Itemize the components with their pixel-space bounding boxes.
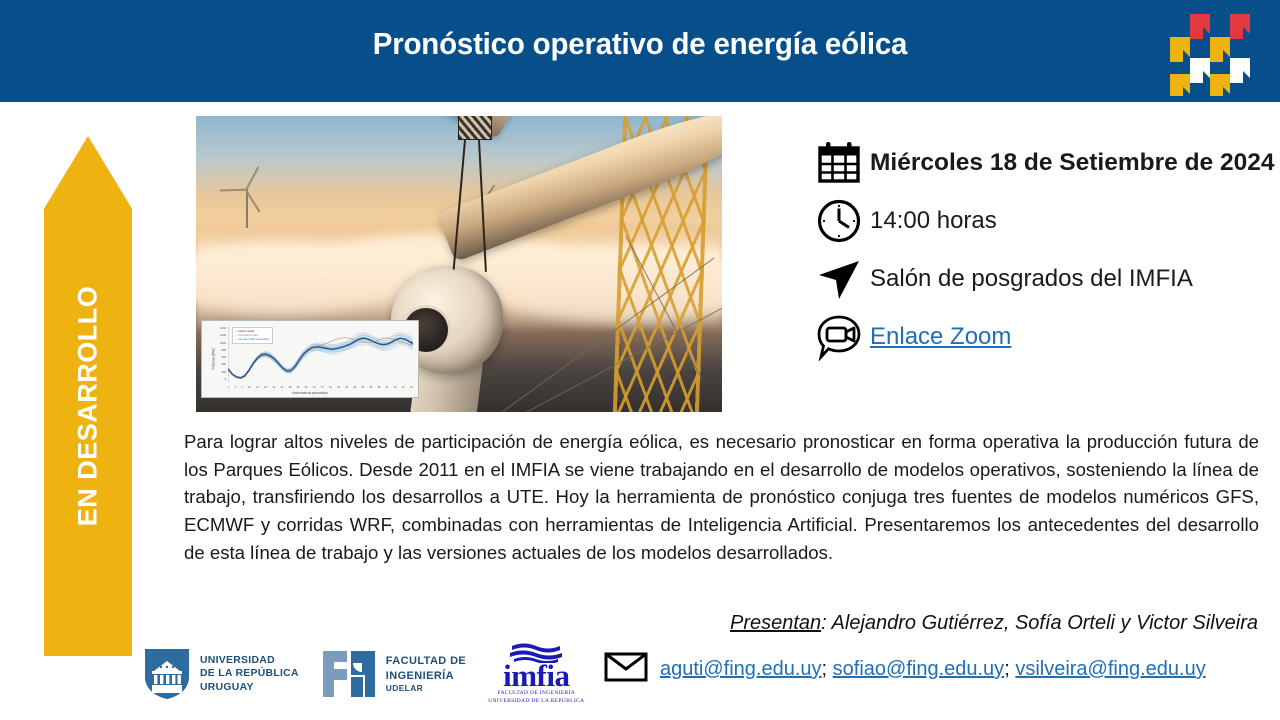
- udelar-logo: UNIVERSIDAD DE LA REPÚBLICA URUGUAY: [143, 647, 299, 701]
- chart-x-tick: 67: [402, 386, 405, 389]
- chart-x-ticks: 1471013161922252831343740434649525558616…: [228, 386, 413, 389]
- presenters-names: Alejandro Gutiérrez, Sofía Orteli y Vict…: [832, 612, 1258, 634]
- chart-x-tick: 52: [361, 386, 364, 389]
- chart-y-ticks: 1400120010008006004002000: [204, 326, 226, 381]
- chart-x-tick: 25: [288, 386, 291, 389]
- imfia-sub-1: FACULTAD DE INGENIERÍA: [488, 690, 584, 698]
- chart-x-tick: 55: [369, 386, 372, 389]
- udelar-logo-text: UNIVERSIDAD DE LA REPÚBLICA URUGUAY: [200, 654, 299, 695]
- event-time-text: 14:00 horas: [870, 207, 997, 235]
- email-link[interactable]: sofiao@fing.edu.uy: [833, 658, 1005, 680]
- chart-x-tick: 49: [353, 386, 356, 389]
- imfia-sub-2: UNIVERSIDAD DE LA REPÚBLICA: [488, 698, 584, 706]
- chart-y-tick: 1200: [220, 333, 226, 337]
- envelope-icon: [604, 652, 648, 687]
- chart-x-tick: 10: [248, 386, 251, 389]
- status-banner-en-desarrollo: EN DESARROLLO: [44, 136, 132, 656]
- abstract-paragraph: Para lograr altos niveles de participaci…: [184, 428, 1259, 567]
- chart-x-tick: 70: [410, 386, 413, 389]
- imfia-subtext: FACULTAD DE INGENIERÍA UNIVERSIDAD DE LA…: [488, 690, 584, 705]
- contact-emails-row: aguti@fing.edu.uy; sofiao@fing.edu.uy; v…: [604, 652, 1206, 687]
- chart-x-tick: 64: [394, 386, 397, 389]
- udelar-line-2: DE LA REPÚBLICA: [200, 667, 299, 681]
- crane-hook-block: [458, 116, 492, 140]
- event-detail-time: 14:00 horas: [808, 192, 1278, 250]
- chart-x-tick: 31: [305, 386, 308, 389]
- event-detail-date: Miércoles 18 de Setiembre de 2024: [808, 134, 1278, 192]
- imfia-logo: imfia FACULTAD DE INGENIERÍA UNIVERSIDAD…: [488, 643, 584, 705]
- imfia-wordmark: imfia: [503, 663, 569, 689]
- page-title: Pronóstico operativo de energía eólica: [32, 26, 1248, 62]
- event-detail-location: Salón de posgrados del IMFIA: [808, 250, 1278, 308]
- email-list[interactable]: aguti@fing.edu.uy; sofiao@fing.edu.uy; v…: [660, 658, 1206, 681]
- header-bar: Pronóstico operativo de energía eólica: [0, 0, 1280, 102]
- udelar-line-3: URUGUAY: [200, 681, 299, 695]
- udelar-shield-icon: [143, 647, 191, 701]
- forecast-inset-chart: Potencia [MW] 1400120010008006004002000 …: [201, 320, 419, 398]
- institution-logos: UNIVERSIDAD DE LA REPÚBLICA URUGUAY FACU…: [143, 643, 584, 705]
- zoom-link[interactable]: Enlace Zoom: [870, 323, 1011, 351]
- chart-y-tick: 1000: [220, 341, 226, 345]
- chart-x-tick: 43: [337, 386, 340, 389]
- chart-x-tick: 16: [264, 386, 267, 389]
- chart-x-tick: 19: [272, 386, 275, 389]
- facultad-ingenieria-logo: FACULTAD DE INGENIERÍA UDELAR: [321, 647, 466, 701]
- chart-x-tick: 22: [280, 386, 283, 389]
- email-link[interactable]: aguti@fing.edu.uy: [660, 658, 822, 680]
- chart-x-tick: 7: [241, 386, 242, 389]
- fing-logo-text: FACULTAD DE INGENIERÍA UDELAR: [386, 654, 466, 694]
- presenters-separator: :: [821, 612, 831, 634]
- chart-x-tick: 13: [256, 386, 259, 389]
- chart-y-tick: 600: [221, 355, 226, 359]
- chart-x-tick: 37: [321, 386, 324, 389]
- email-link[interactable]: vsilveira@fing.edu.uy: [1015, 658, 1205, 680]
- presenters-line: Presentan: Alejandro Gutiérrez, Sofía Or…: [730, 612, 1258, 635]
- chart-legend: — Datos reales— Pronóstico Max— Curvas 1…: [232, 327, 273, 344]
- event-date-text: Miércoles 18 de Setiembre de 2024: [870, 149, 1274, 177]
- clock-icon: [808, 198, 870, 244]
- event-detail-zoom[interactable]: Enlace Zoom: [808, 308, 1278, 366]
- fing-line-3: UDELAR: [386, 683, 466, 694]
- status-badge: EN DESARROLLO: [73, 286, 104, 527]
- chart-y-tick: 400: [221, 362, 226, 366]
- event-location-text: Salón de posgrados del IMFIA: [870, 265, 1193, 293]
- chart-x-tick: 1: [228, 386, 229, 389]
- email-separator: ;: [822, 658, 833, 680]
- chart-x-tick: 28: [297, 386, 300, 389]
- event-details-list: Miércoles 18 de Setiembre de 2024 14:00 …: [808, 134, 1278, 366]
- chart-x-tick: 40: [329, 386, 332, 389]
- chart-y-tick: 800: [221, 348, 226, 352]
- fing-line-1: FACULTAD DE: [386, 654, 466, 668]
- chart-legend-item: — Curvas 1.000 escenarios: [235, 337, 270, 341]
- location-arrow-icon: [808, 255, 870, 303]
- wind-turbine-photo: Potencia [MW] 1400120010008006004002000 …: [196, 116, 722, 412]
- slide-root: Pronóstico operativo de energía eólica E…: [0, 0, 1280, 720]
- chart-y-tick: 200: [221, 370, 226, 374]
- chart-y-tick: 0: [224, 377, 226, 381]
- udelar-chevron-logo: [1156, 8, 1266, 96]
- email-separator: ;: [1004, 658, 1015, 680]
- fing-mark-icon: [321, 647, 377, 701]
- udelar-line-1: UNIVERSIDAD: [200, 654, 299, 668]
- calendar-icon: [808, 141, 870, 185]
- presenters-label: Presentan: [730, 612, 821, 634]
- chart-x-tick: 61: [386, 386, 389, 389]
- chart-y-tick: 1400: [220, 326, 226, 330]
- video-chat-icon: [808, 313, 870, 361]
- fing-line-2: INGENIERÍA: [386, 669, 466, 683]
- chart-xlabel: Horizonte de pronóstico: [202, 391, 418, 395]
- chart-x-tick: 46: [345, 386, 348, 389]
- chart-x-tick: 4: [235, 386, 236, 389]
- chart-x-tick: 58: [377, 386, 380, 389]
- chart-x-tick: 34: [313, 386, 316, 389]
